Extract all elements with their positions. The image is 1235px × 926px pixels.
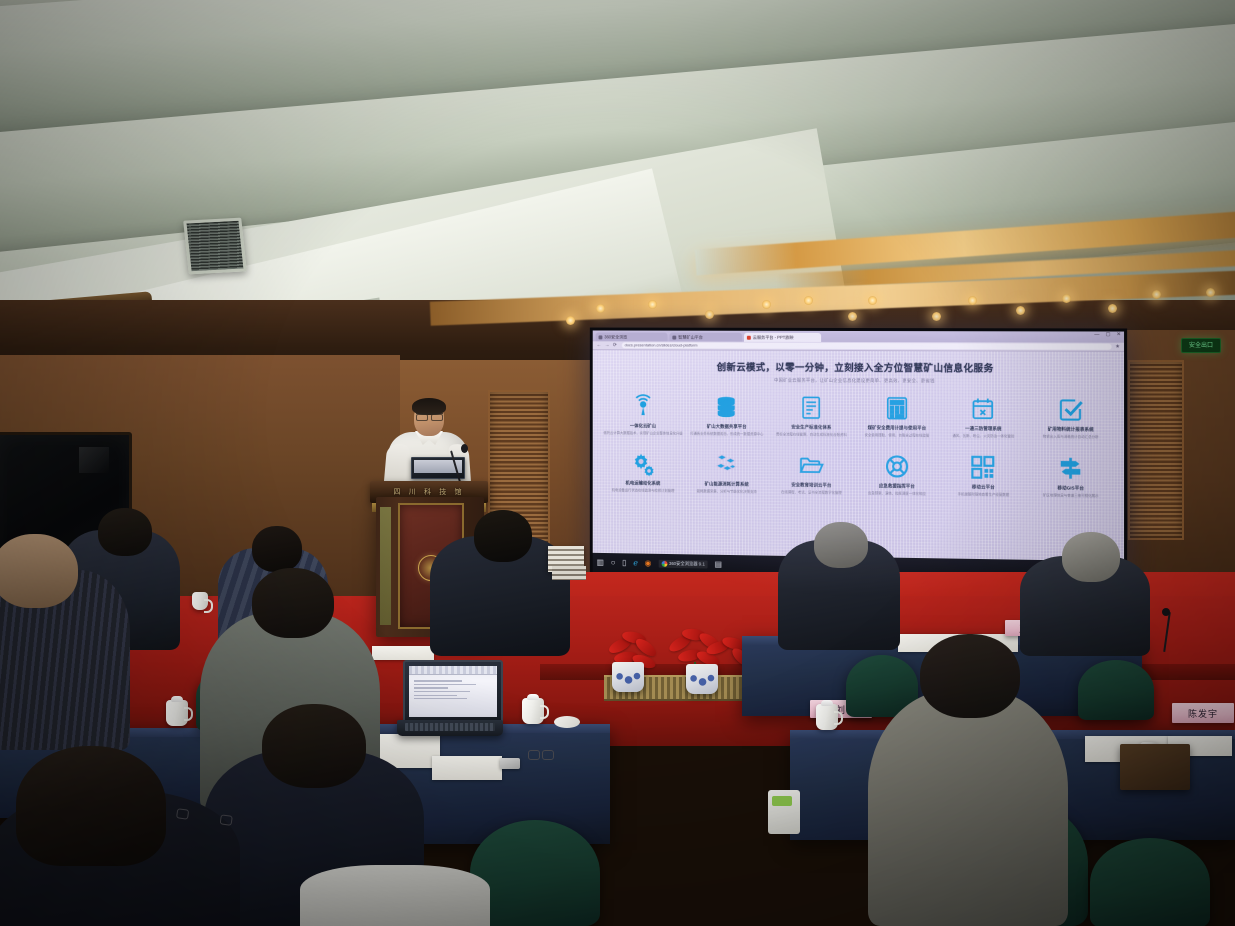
feature-label: 安全教育培训云平台 — [771, 482, 852, 488]
person-head — [920, 634, 1020, 718]
person-head — [98, 508, 152, 556]
browser-tab[interactable]: 360安全浏览 — [596, 332, 668, 341]
database-stack-icon — [687, 392, 767, 422]
laptop-screen[interactable] — [409, 666, 497, 717]
podium-side-strip — [380, 507, 391, 625]
ceiling-spotlight — [566, 316, 575, 325]
person-head — [0, 534, 78, 608]
audience-person — [778, 540, 900, 650]
audience-person — [0, 790, 240, 926]
ceiling-spotlight — [848, 312, 857, 321]
exit-sign-label: 安全出口 — [1189, 343, 1213, 349]
browser-tab-label: 云服务平台 - PPT放映 — [753, 334, 794, 340]
laptop-base[interactable] — [397, 720, 503, 736]
screen-glint — [79, 447, 109, 473]
laptop-lid — [403, 660, 503, 722]
document-list-icon — [771, 393, 852, 423]
maximize-icon[interactable]: ▢ — [1106, 333, 1111, 338]
leather-folder — [1120, 744, 1190, 790]
person-head — [474, 510, 532, 562]
bookmark-star-icon[interactable]: ★ — [1115, 344, 1120, 350]
ceiling-spotlight — [968, 296, 977, 305]
browser-tab[interactable]: 智慧矿山平台 — [669, 333, 742, 342]
air-vent-icon — [183, 218, 247, 275]
feature-cell[interactable]: 一体化云矿山 依托云计算大数据技术，实现矿山企业整体信息化升级 — [602, 392, 683, 436]
tea-mug — [166, 700, 188, 726]
feature-cell[interactable]: 机电运输动化系统 机电设备运行状态在线监测与检修计划管理 — [602, 449, 683, 494]
person-head — [252, 526, 302, 572]
feature-desc: 能耗数据采集、分析与节能优化决策支持 — [687, 489, 767, 494]
mobile-phone[interactable] — [500, 758, 520, 769]
feature-desc: 安全费用提取、使用、台账全过程在线监管 — [856, 433, 938, 438]
person-head — [252, 568, 334, 638]
tea-mug — [522, 698, 544, 724]
gears-icon — [603, 449, 682, 479]
search-circle-icon[interactable]: ○ — [611, 559, 616, 567]
page-icon — [672, 335, 676, 339]
ceiling-spotlight — [932, 312, 941, 321]
feature-desc: 依托云计算大数据技术，实现矿山企业整体信息化升级 — [603, 431, 682, 436]
feature-cell[interactable]: 应急救援指挥平台 应急预案、演练、指挥调度一体化响应 — [855, 451, 939, 496]
ceiling-spotlight — [1016, 306, 1025, 315]
taskbar-running-app[interactable]: 360安全浏览器 9.1 — [658, 560, 707, 569]
feature-label: 移动云平台 — [942, 484, 1025, 491]
checkbox-checked-icon — [1029, 394, 1113, 425]
chrome-icon — [661, 561, 667, 567]
feature-cell[interactable]: 安全生产标准化体系 贯标全流程在线管理，自动生成标准化台账资料 — [770, 393, 853, 438]
ceiling-spotlight — [762, 300, 771, 309]
book-stack — [552, 566, 586, 580]
feature-label: 移动GIS平台 — [1029, 485, 1113, 492]
bag-label — [772, 796, 792, 806]
feature-cell[interactable]: 移动GIS平台 矿区地理信息与巷道三维可视化展示 — [1028, 453, 1114, 499]
feature-row-1: 一体化云矿山 依托云计算大数据技术，实现矿山企业整体信息化升级 — [602, 392, 1113, 440]
saucer — [554, 716, 580, 728]
signpost-icon — [1029, 453, 1113, 484]
feature-label: 一体化云矿山 — [603, 423, 682, 429]
pot-pattern — [614, 670, 642, 686]
person-head — [16, 746, 166, 866]
feature-label: 应急救援指挥平台 — [856, 483, 938, 489]
calculator-icon — [856, 393, 938, 424]
feature-label: 一通三防管理系统 — [942, 426, 1025, 432]
feature-label: 矿山大数据共享平台 — [687, 424, 767, 430]
ceiling-spotlight — [705, 310, 714, 319]
name-placard: 陈发宇 — [1172, 703, 1234, 723]
taskbar-app-label: 360安全浏览器 9.1 — [669, 561, 705, 568]
chair — [1090, 838, 1210, 926]
wifi-signal-icon — [603, 392, 682, 422]
url-input[interactable]: docs.presentation.cn/slides/cloud-platfo… — [622, 342, 1111, 349]
feature-desc: 应急预案、演练、指挥调度一体化响应 — [856, 491, 938, 496]
feature-row-2: 机电运输动化系统 机电设备运行状态在线监测与检修计划管理 — [602, 449, 1113, 499]
minimize-icon[interactable]: — — [1094, 332, 1099, 337]
edge-browser-icon[interactable]: ℯ — [633, 559, 638, 567]
microphone-icon — [1162, 608, 1170, 616]
feature-cell[interactable]: 安全教育培训云平台 在线课程、考试、证书全流程数字化管理 — [770, 451, 853, 496]
podium-plaque-label: 四 川 科 技 馆 — [394, 487, 465, 497]
nav-buttons[interactable]: ← → ⟳ — [597, 342, 618, 348]
ceiling-spotlight — [1108, 304, 1117, 313]
window-controls[interactable]: — ▢ ✕ — [1094, 332, 1121, 337]
feature-cell[interactable]: 一通三防管理系统 通风、瓦斯、粉尘、火灾防治一体化管控 — [941, 394, 1026, 439]
document-body — [409, 675, 497, 705]
louver-panel — [1128, 360, 1184, 540]
ceiling-spotlight — [596, 304, 605, 313]
glasses-icon — [416, 413, 443, 418]
audience-person — [868, 690, 1068, 926]
chair — [1078, 660, 1154, 720]
ceiling-spotlight — [648, 300, 657, 309]
ppt-icon — [747, 335, 751, 339]
feature-desc: 通风、瓦斯、粉尘、火灾防治一体化管控 — [942, 434, 1025, 439]
feature-desc: 矿区地理信息与巷道三维可视化展示 — [1029, 494, 1113, 499]
blocks-icon — [687, 450, 767, 481]
lifebuoy-icon — [856, 451, 938, 482]
conference-hall-photo: 安全出口 360安全浏览 智慧矿山平台 云服务平台 - PPT放映 — [0, 0, 1235, 926]
tea-mug — [816, 704, 838, 730]
person-head — [814, 522, 868, 568]
paper-sheet — [372, 646, 434, 660]
feature-cell[interactable]: 矿用物料统计报表系统 物资出入库与消耗统计自动汇总分析 — [1028, 394, 1114, 440]
feature-desc: 机电设备运行状态在线监测与检修计划管理 — [603, 488, 682, 493]
feature-desc: 贯标全流程在线管理，自动生成标准化台账资料 — [771, 432, 852, 437]
feature-cell[interactable]: 矿山能源消耗计算系统 能耗数据采集、分析与节能优化决策支持 — [686, 450, 768, 495]
feature-label: 矿用物料统计报表系统 — [1029, 426, 1113, 432]
person-head — [262, 704, 366, 788]
porcelain-pot — [612, 662, 644, 692]
windows-start-icon[interactable]: ▥ — [597, 559, 604, 567]
ceiling-spotlight — [868, 296, 877, 305]
feature-label: 机电运输动化系统 — [603, 481, 682, 487]
mug-lid — [821, 700, 833, 706]
browser-tab-label: 智慧矿山平台 — [678, 334, 703, 340]
feature-cell[interactable]: 矿山大数据共享平台 打通各业务系统数据孤岛，形成统一数据资源中心 — [686, 392, 768, 437]
slide-title: 创新云模式，以零一分钟，立刻接入全方位智慧矿山信息化服务 — [602, 359, 1113, 375]
feature-desc: 打通各业务系统数据孤岛，形成统一数据资源中心 — [687, 432, 767, 437]
feature-desc: 在线课程、考试、证书全流程数字化管理 — [771, 490, 852, 495]
feature-cell[interactable]: 煤矿安全费用计提与使用平台 安全费用提取、使用、台账全过程在线监管 — [855, 393, 939, 438]
tea-mug — [192, 592, 208, 610]
audience-person — [0, 570, 130, 750]
file-explorer-icon[interactable]: ▤ — [715, 561, 722, 569]
mug-lid — [527, 694, 539, 700]
exit-sign: 安全出口 — [1181, 338, 1221, 353]
glasses-icon — [528, 750, 554, 758]
audience-laptop[interactable] — [397, 660, 503, 744]
feature-label: 煤矿安全费用计提与使用平台 — [856, 425, 938, 431]
feature-desc: 手机端随时随地查看生产经营数据 — [942, 492, 1025, 497]
browser-tab-bar[interactable]: 360安全浏览 智慧矿山平台 云服务平台 - PPT放映 — ▢ ✕ — [593, 330, 1124, 342]
feature-label: 矿山能源消耗计算系统 — [687, 482, 767, 488]
page-icon — [599, 335, 603, 339]
audience-person — [1020, 556, 1150, 656]
ceiling-spotlight — [1062, 294, 1071, 303]
name-placard-label: 陈发宇 — [1188, 707, 1218, 720]
task-view-icon[interactable]: ▯ — [622, 559, 626, 567]
ceiling-spotlight — [804, 296, 813, 305]
feature-desc: 物资出入库与消耗统计自动汇总分析 — [1029, 434, 1113, 439]
paper-sheet — [432, 756, 502, 780]
feature-label: 安全生产标准化体系 — [771, 424, 852, 430]
laptop-keyboard[interactable] — [405, 723, 495, 731]
ceiling-spotlight — [1206, 288, 1215, 297]
browser-tab-label: 360安全浏览 — [604, 334, 627, 340]
app-ribbon — [409, 666, 497, 675]
feature-cell[interactable]: 移动云平台 手机端随时随地查看生产经营数据 — [941, 452, 1026, 498]
calendar-x-icon — [942, 394, 1025, 425]
person-head — [1062, 532, 1120, 582]
ceiling-spotlight — [1152, 290, 1161, 299]
close-icon[interactable]: ✕ — [1117, 333, 1121, 338]
qr-code-icon — [942, 452, 1025, 483]
browser-tab-active[interactable]: 云服务平台 - PPT放映 — [744, 333, 821, 342]
folder-open-icon — [771, 451, 852, 482]
mug-lid — [171, 696, 183, 702]
microphone-icon — [461, 444, 468, 453]
orange-app-icon[interactable]: ◉ — [645, 560, 652, 568]
slide-subtitle: 中国矿业云服务平台，让矿山企业信息化建设更简单、更高效、更安全、更省钱 — [602, 377, 1113, 386]
audience-person — [300, 865, 490, 926]
